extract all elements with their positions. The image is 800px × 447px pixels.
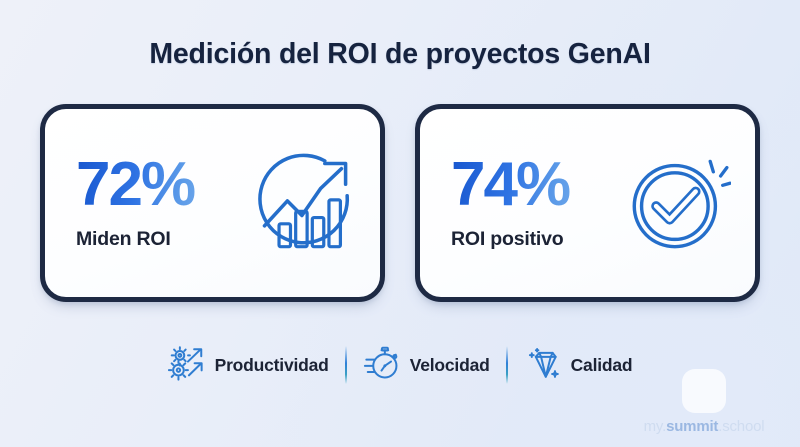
watermark-brand: summit xyxy=(666,418,718,435)
stat-label: ROI positivo xyxy=(451,228,608,251)
benefit-chip-velocidad: Velocidad xyxy=(347,344,506,387)
logo-mark-icon xyxy=(682,369,726,413)
stat-value: 74% xyxy=(451,155,608,216)
stat-value: 72% xyxy=(76,155,233,216)
benefit-chip-label: Velocidad xyxy=(410,355,490,376)
watermark-logo: my.summit.school xyxy=(624,369,784,435)
stat-card-text: 74% ROI positivo xyxy=(420,155,608,252)
gears-arrows-icon xyxy=(168,344,206,387)
growth-chart-arrow-circle-icon xyxy=(227,151,380,255)
stat-label: Miden ROI xyxy=(76,228,233,251)
diamond-gem-icon xyxy=(524,344,562,387)
watermark-text: my.summit.school xyxy=(644,418,765,435)
check-badge-circle-icon xyxy=(602,151,755,255)
stat-card-group: 72% Miden ROI xyxy=(0,104,800,304)
stopwatch-icon xyxy=(363,344,401,387)
stat-card-miden-roi: 72% Miden ROI xyxy=(40,104,385,302)
stat-card-text: 72% Miden ROI xyxy=(45,155,233,252)
infographic-canvas: Medición del ROI de proyectos GenAI 72% … xyxy=(0,0,800,447)
stat-card-roi-positivo: 74% ROI positivo xyxy=(415,104,760,302)
watermark-suffix: .school xyxy=(718,418,764,435)
page-title: Medición del ROI de proyectos GenAI xyxy=(0,38,800,71)
benefit-chip-label: Productividad xyxy=(215,355,329,376)
benefit-chip-productividad: Productividad xyxy=(152,344,345,387)
watermark-prefix: my. xyxy=(644,418,666,435)
